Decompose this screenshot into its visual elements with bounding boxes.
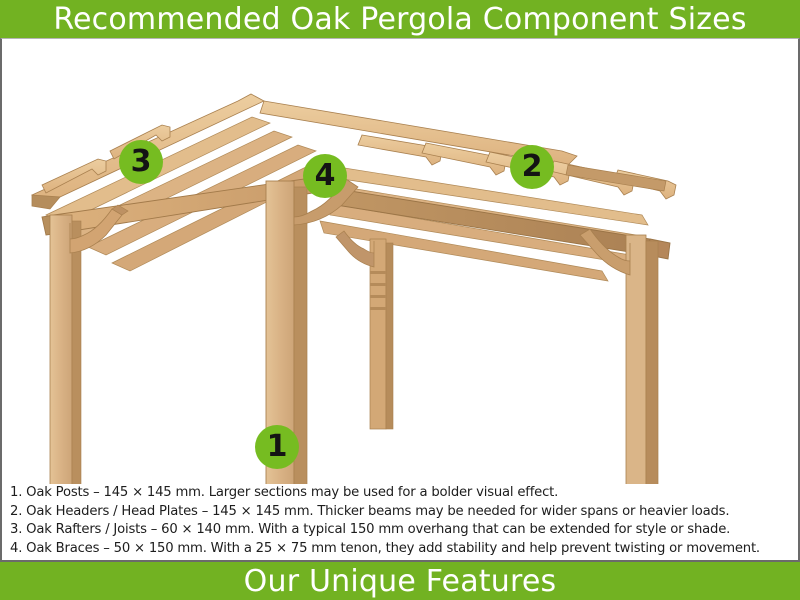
badge-marker-4[interactable]: 4 [303, 154, 347, 198]
spec-line-4: 4. Oak Braces – 50 × 150 mm. With a 25 ×… [10, 540, 790, 559]
post-left [50, 215, 81, 484]
badge-marker-3[interactable]: 3 [119, 140, 163, 184]
post-centre-back [370, 239, 393, 429]
pergola-illustration [2, 39, 798, 484]
badge-label: 4 [315, 161, 336, 191]
footer-title: Our Unique Features [244, 564, 557, 599]
component-spec-list: 1. Oak Posts – 145 × 145 mm. Larger sect… [10, 484, 790, 558]
content-frame: 1 2 3 4 1. Oak Posts – 145 × 145 mm. Lar… [0, 38, 800, 562]
badge-label: 2 [522, 152, 543, 182]
spec-line-3: 3. Oak Rafters / Joists – 60 × 140 mm. W… [10, 521, 790, 540]
post-right [626, 235, 658, 484]
header-banner: Recommended Oak Pergola Component Sizes [0, 0, 800, 38]
pergola-svg [2, 39, 798, 484]
spec-line-2: 2. Oak Headers / Head Plates – 145 × 145… [10, 503, 790, 522]
page-title: Recommended Oak Pergola Component Sizes [53, 2, 746, 37]
pergola-infographic: Recommended Oak Pergola Component Sizes [0, 0, 800, 600]
badge-label: 1 [267, 432, 288, 462]
spec-line-1: 1. Oak Posts – 145 × 145 mm. Larger sect… [10, 484, 790, 503]
badge-marker-1[interactable]: 1 [255, 425, 299, 469]
badge-label: 3 [131, 147, 152, 177]
badge-marker-2[interactable]: 2 [510, 145, 554, 189]
footer-banner: Our Unique Features [0, 562, 800, 600]
